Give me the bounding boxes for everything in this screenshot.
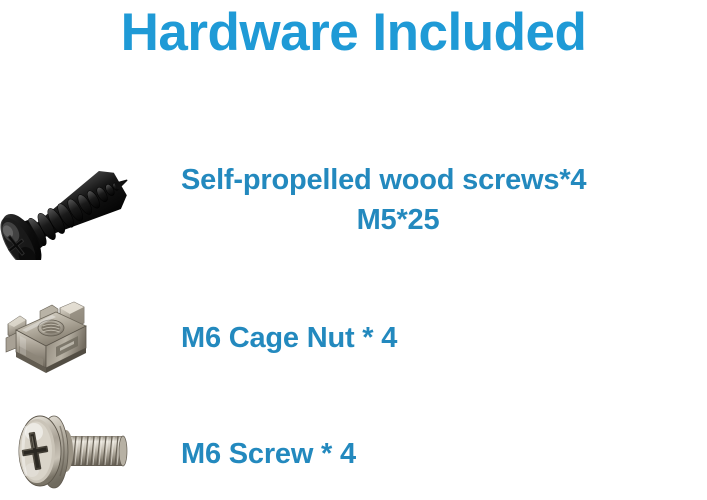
item-label-line2: M5*25 <box>181 200 707 240</box>
item-labels: Self-propelled wood screws*4 M5*25 <box>175 160 707 240</box>
item-labels: M6 Cage Nut * 4 <box>175 318 707 358</box>
item-label-line1: Self-propelled wood screws*4 <box>181 160 707 200</box>
cage-nut-icon <box>0 292 175 384</box>
black-wood-screw-image <box>0 140 175 260</box>
black-wood-screw-icon <box>0 140 175 260</box>
list-item: M6 Screw * 4 <box>0 408 707 500</box>
item-label-line1: M6 Cage Nut * 4 <box>181 318 707 358</box>
page-title: Hardware Included <box>0 2 707 64</box>
item-label-line1: M6 Screw * 4 <box>181 434 707 474</box>
list-item: M6 Cage Nut * 4 <box>0 292 707 384</box>
cage-nut-image <box>0 292 175 384</box>
m6-flange-screw-icon <box>0 408 175 500</box>
m6-screw-image <box>0 408 175 500</box>
item-labels: M6 Screw * 4 <box>175 434 707 474</box>
list-item: Self-propelled wood screws*4 M5*25 <box>0 140 707 260</box>
hardware-included-panel: Hardware Included <box>0 0 707 500</box>
